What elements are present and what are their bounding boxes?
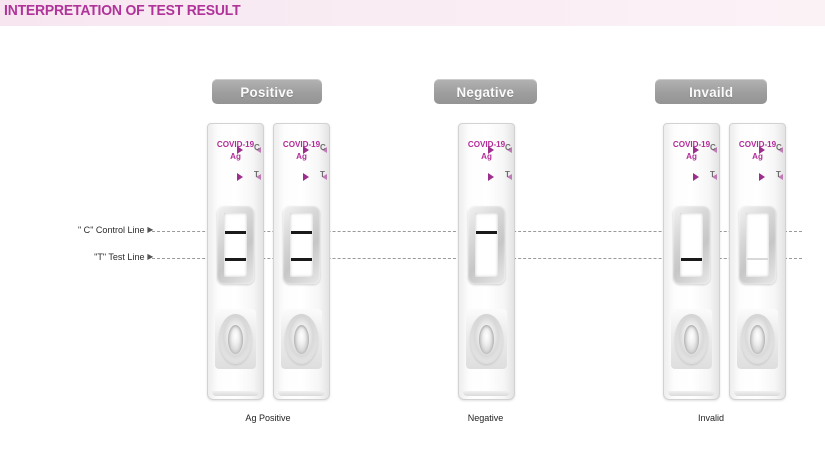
cassette-foot [278, 391, 325, 396]
arrow-right-icon: ▶ [147, 252, 153, 261]
control-marker-arrow-icon [237, 146, 243, 154]
sample-well-ring [741, 314, 774, 364]
control-line-legend-text: " C" Control Line [78, 225, 145, 236]
control-band-letter: C [254, 143, 260, 152]
cassette-foot [668, 391, 715, 396]
sample-well-ring [285, 314, 318, 364]
arrow-right-icon: ▶ [147, 225, 153, 234]
test-band-letter: T [505, 170, 510, 179]
sample-well-hole [228, 325, 243, 354]
group-caption-invalid: Invalid [658, 413, 764, 424]
control-marker-arrow-icon [759, 146, 765, 154]
test-cassette-positive-2: COVID-19AgCT [273, 123, 330, 400]
test-marker-arrow-icon [488, 173, 494, 181]
result-window [468, 206, 505, 284]
test-cassette-invalid-2: COVID-19AgCT [729, 123, 786, 400]
sample-well [466, 309, 507, 369]
interpretation-panel: INTERPRETATION OF TEST RESULT " C" Contr… [0, 0, 825, 450]
control-line-legend: " C" Control Line▶ [78, 225, 153, 236]
sample-well [671, 309, 712, 369]
test-marker-arrow-icon [693, 173, 699, 181]
test-band [291, 258, 312, 261]
sample-well-ring [675, 314, 708, 364]
test-band-letter: T [254, 170, 259, 179]
cassette-brand-line2: Ag [665, 150, 717, 162]
sample-well-hole [684, 325, 699, 354]
cassette-brand-line2: Ag [731, 150, 783, 162]
test-marker-arrow-icon [759, 173, 765, 181]
result-window [673, 206, 710, 284]
test-band-letter: T [776, 170, 781, 179]
test-band [225, 258, 246, 261]
sample-well [281, 309, 322, 369]
group-header-label: Negative [457, 84, 515, 100]
test-band [747, 258, 768, 260]
control-band-letter: C [320, 143, 326, 152]
test-marker-arrow-icon [303, 173, 309, 181]
group-header-label: Positive [240, 84, 293, 100]
sample-well-hole [294, 325, 309, 354]
result-window [283, 206, 320, 284]
result-window [739, 206, 776, 284]
test-cassette-positive-1: COVID-19AgCT [207, 123, 264, 400]
test-band-letter: T [320, 170, 325, 179]
group-header-invalid: Invaild [655, 79, 767, 104]
group-caption-negative: Negative [437, 413, 535, 424]
control-band-letter: C [505, 143, 511, 152]
sample-well-ring [219, 314, 252, 364]
test-line-legend-text: "T" Test Line [94, 252, 144, 263]
sample-well [737, 309, 778, 369]
cassette-foot [212, 391, 259, 396]
group-header-negative: Negative [434, 79, 537, 104]
result-window [217, 206, 254, 284]
control-band-letter: C [710, 143, 716, 152]
cassette-brand-line2: Ag [460, 150, 512, 162]
cassette-brand-line2: Ag [275, 150, 327, 162]
test-cassette-negative-1: COVID-19AgCT [458, 123, 515, 400]
test-cassette-invalid-1: COVID-19AgCT [663, 123, 720, 400]
test-band-letter: T [710, 170, 715, 179]
cassette-brand-line2: Ag [209, 150, 261, 162]
control-band-letter: C [776, 143, 782, 152]
test-band [681, 258, 702, 261]
group-header-label: Invaild [689, 84, 733, 100]
sample-well-hole [479, 325, 494, 354]
cassette-foot [734, 391, 781, 396]
control-band [291, 231, 312, 234]
control-band [225, 231, 246, 234]
page-title: INTERPRETATION OF TEST RESULT [4, 2, 240, 19]
group-caption-positive: Ag Positive [210, 413, 326, 424]
sample-well-ring [470, 314, 503, 364]
sample-well-hole [750, 325, 765, 354]
control-marker-arrow-icon [488, 146, 494, 154]
control-marker-arrow-icon [693, 146, 699, 154]
test-line-legend: "T" Test Line▶ [94, 252, 153, 263]
control-marker-arrow-icon [303, 146, 309, 154]
group-header-positive: Positive [212, 79, 322, 104]
test-marker-arrow-icon [237, 173, 243, 181]
control-band [476, 231, 497, 234]
cassette-foot [463, 391, 510, 396]
sample-well [215, 309, 256, 369]
